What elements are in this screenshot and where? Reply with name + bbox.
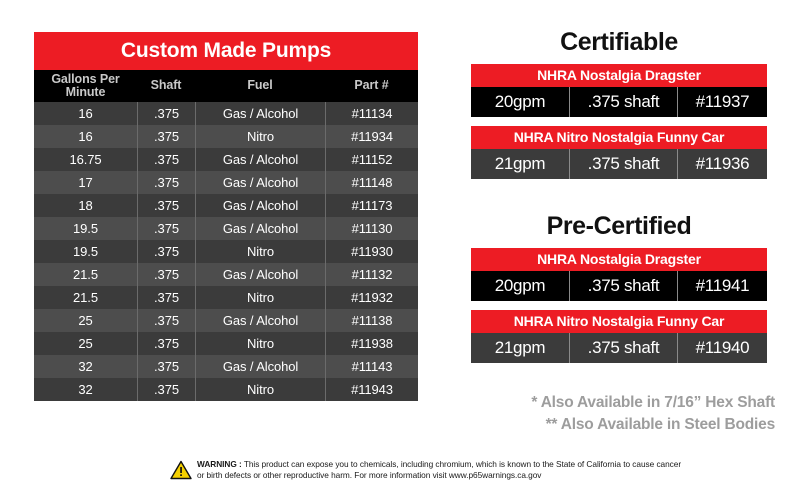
cell-shaft: .375 bbox=[137, 355, 195, 378]
product-spec-sheet: Custom Made Pumps Gallons Per Minute Sha… bbox=[0, 0, 800, 497]
cell-shaft: .375 shaft bbox=[569, 149, 677, 179]
cell-part-number: #11132 bbox=[325, 263, 418, 286]
cell-shaft: .375 bbox=[137, 240, 195, 263]
table-row: 21.5.375Nitro#11932 bbox=[34, 286, 418, 309]
footnote-steel-bodies: ** Also Available in Steel Bodies bbox=[455, 414, 775, 436]
cell-part-number: #11148 bbox=[325, 171, 418, 194]
cell-shaft: .375 bbox=[137, 148, 195, 171]
cell-gallons-per-minute: 32 bbox=[34, 378, 137, 401]
cell-fuel: Gas / Alcohol bbox=[195, 171, 325, 194]
table-row: 18.375Gas / Alcohol#11173 bbox=[34, 194, 418, 217]
cell-fuel: Nitro bbox=[195, 125, 325, 148]
certifiable-panel: Certifiable NHRA Nostalgia Dragster20gpm… bbox=[471, 28, 767, 188]
cell-part-number: #11152 bbox=[325, 148, 418, 171]
spec-row: 21gpm.375 shaft#11936 bbox=[471, 149, 767, 179]
prop65-warning: WARNING : This product can expose you to… bbox=[170, 459, 690, 482]
cell-part-number: #11138 bbox=[325, 309, 418, 332]
cell-gallons-per-minute: 25 bbox=[34, 332, 137, 355]
cell-part-number: #11143 bbox=[325, 355, 418, 378]
cell-part-number: #11930 bbox=[325, 240, 418, 263]
cell-fuel: Nitro bbox=[195, 378, 325, 401]
cell-gallons-per-minute: 18 bbox=[34, 194, 137, 217]
cell-gallons-per-minute: 21.5 bbox=[34, 263, 137, 286]
left-table-title: Custom Made Pumps bbox=[34, 32, 418, 70]
table-row: 16.375Nitro#11934 bbox=[34, 125, 418, 148]
warning-triangle-icon bbox=[170, 460, 192, 480]
certifiable-title: Certifiable bbox=[471, 28, 767, 57]
class-banner: NHRA Nostalgia Dragster bbox=[471, 64, 767, 87]
table-row: 32.375Gas / Alcohol#11143 bbox=[34, 355, 418, 378]
availability-footnotes: * Also Available in 7/16” Hex Shaft ** A… bbox=[455, 392, 775, 437]
table-row: 19.5.375Nitro#11930 bbox=[34, 240, 418, 263]
precertified-panel: Pre-Certified NHRA Nostalgia Dragster20g… bbox=[471, 212, 767, 372]
cell-part-number: #11932 bbox=[325, 286, 418, 309]
table-row: 17.375Gas / Alcohol#11148 bbox=[34, 171, 418, 194]
class-banner: NHRA Nostalgia Dragster bbox=[471, 248, 767, 271]
spec-group: NHRA Nostalgia Dragster20gpm.375 shaft#1… bbox=[471, 248, 767, 301]
column-header-shaft: Shaft bbox=[137, 79, 195, 92]
footnote-hex-shaft: * Also Available in 7/16” Hex Shaft bbox=[455, 392, 775, 414]
cell-gallons-per-minute: 32 bbox=[34, 355, 137, 378]
class-banner: NHRA Nitro Nostalgia Funny Car bbox=[471, 310, 767, 333]
cell-fuel: Gas / Alcohol bbox=[195, 309, 325, 332]
cell-shaft: .375 bbox=[137, 309, 195, 332]
table-row: 19.5.375Gas / Alcohol#11130 bbox=[34, 217, 418, 240]
cell-shaft: .375 shaft bbox=[569, 271, 677, 301]
spec-row: 20gpm.375 shaft#11937 bbox=[471, 87, 767, 117]
cell-shaft: .375 bbox=[137, 217, 195, 240]
cell-fuel: Gas / Alcohol bbox=[195, 263, 325, 286]
cell-shaft: .375 shaft bbox=[569, 333, 677, 363]
cell-shaft: .375 bbox=[137, 102, 195, 125]
cell-part-number: #11937 bbox=[677, 87, 767, 117]
cell-fuel: Gas / Alcohol bbox=[195, 355, 325, 378]
precertified-groups: NHRA Nostalgia Dragster20gpm.375 shaft#1… bbox=[471, 248, 767, 363]
cell-part-number: #11934 bbox=[325, 125, 418, 148]
left-table-body: 16.375Gas / Alcohol#1113416.375Nitro#119… bbox=[34, 102, 418, 401]
column-header-gallons-per-minute: Gallons Per Minute bbox=[34, 73, 137, 99]
cell-fuel: Nitro bbox=[195, 332, 325, 355]
cell-gallons-per-minute: 17 bbox=[34, 171, 137, 194]
cell-shaft: .375 shaft bbox=[569, 87, 677, 117]
cell-gallons-per-minute: 21.5 bbox=[34, 286, 137, 309]
prop65-warning-body: This product can expose you to chemicals… bbox=[197, 459, 681, 480]
cell-shaft: .375 bbox=[137, 378, 195, 401]
table-row: 16.75.375Gas / Alcohol#11152 bbox=[34, 148, 418, 171]
cell-gallons-per-minute: 19.5 bbox=[34, 240, 137, 263]
table-row: 25.375Gas / Alcohol#11138 bbox=[34, 309, 418, 332]
left-table-header-row: Gallons Per Minute Shaft Fuel Part # bbox=[34, 70, 418, 102]
table-row: 25.375Nitro#11938 bbox=[34, 332, 418, 355]
cell-shaft: .375 bbox=[137, 332, 195, 355]
column-header-part-number: Part # bbox=[325, 79, 418, 92]
cell-gallons-per-minute: 16.75 bbox=[34, 148, 137, 171]
cell-gallons-per-minute: 16 bbox=[34, 125, 137, 148]
cell-part-number: #11134 bbox=[325, 102, 418, 125]
cell-shaft: .375 bbox=[137, 263, 195, 286]
cell-shaft: .375 bbox=[137, 194, 195, 217]
cell-part-number: #11943 bbox=[325, 378, 418, 401]
spec-group: NHRA Nitro Nostalgia Funny Car21gpm.375 … bbox=[471, 126, 767, 179]
cell-part-number: #11940 bbox=[677, 333, 767, 363]
spec-row: 20gpm.375 shaft#11941 bbox=[471, 271, 767, 301]
cell-shaft: .375 bbox=[137, 286, 195, 309]
cell-fuel: Gas / Alcohol bbox=[195, 148, 325, 171]
cell-gpm: 20gpm bbox=[471, 271, 569, 301]
cell-gpm: 21gpm bbox=[471, 333, 569, 363]
cell-gpm: 21gpm bbox=[471, 149, 569, 179]
column-header-fuel: Fuel bbox=[195, 79, 325, 92]
spec-group: NHRA Nostalgia Dragster20gpm.375 shaft#1… bbox=[471, 64, 767, 117]
class-banner: NHRA Nitro Nostalgia Funny Car bbox=[471, 126, 767, 149]
spec-group: NHRA Nitro Nostalgia Funny Car21gpm.375 … bbox=[471, 310, 767, 363]
cell-part-number: #11936 bbox=[677, 149, 767, 179]
table-row: 16.375Gas / Alcohol#11134 bbox=[34, 102, 418, 125]
prop65-warning-label: WARNING : bbox=[197, 459, 242, 469]
table-row: 21.5.375Gas / Alcohol#11132 bbox=[34, 263, 418, 286]
cell-fuel: Nitro bbox=[195, 240, 325, 263]
cell-part-number: #11173 bbox=[325, 194, 418, 217]
cell-shaft: .375 bbox=[137, 171, 195, 194]
certifiable-groups: NHRA Nostalgia Dragster20gpm.375 shaft#1… bbox=[471, 64, 767, 179]
cell-part-number: #11938 bbox=[325, 332, 418, 355]
custom-made-pumps-table: Custom Made Pumps Gallons Per Minute Sha… bbox=[34, 32, 418, 401]
cell-shaft: .375 bbox=[137, 125, 195, 148]
precertified-title: Pre-Certified bbox=[471, 212, 767, 241]
cell-part-number: #11130 bbox=[325, 217, 418, 240]
cell-gallons-per-minute: 25 bbox=[34, 309, 137, 332]
cell-gallons-per-minute: 19.5 bbox=[34, 217, 137, 240]
cell-fuel: Nitro bbox=[195, 286, 325, 309]
cell-fuel: Gas / Alcohol bbox=[195, 102, 325, 125]
cell-fuel: Gas / Alcohol bbox=[195, 194, 325, 217]
prop65-warning-text: WARNING : This product can expose you to… bbox=[197, 459, 690, 482]
cell-fuel: Gas / Alcohol bbox=[195, 217, 325, 240]
cell-gallons-per-minute: 16 bbox=[34, 102, 137, 125]
spec-row: 21gpm.375 shaft#11940 bbox=[471, 333, 767, 363]
cell-gpm: 20gpm bbox=[471, 87, 569, 117]
cell-part-number: #11941 bbox=[677, 271, 767, 301]
table-row: 32.375Nitro#11943 bbox=[34, 378, 418, 401]
